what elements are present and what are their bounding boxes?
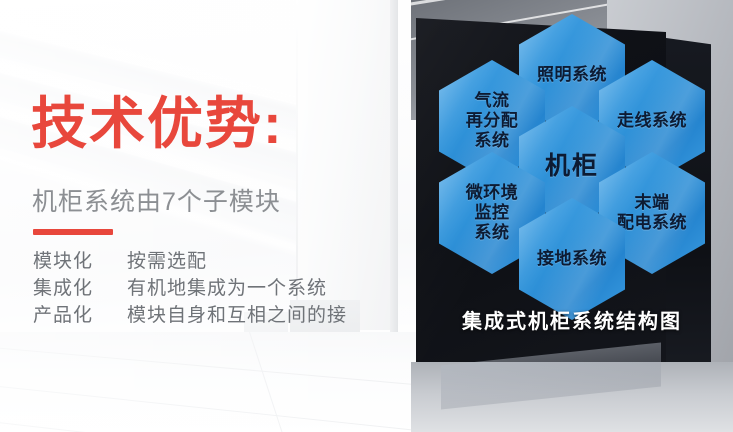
feature-value: 有机地集成为一个系统 bbox=[127, 273, 327, 300]
feature-key: 模块化 bbox=[33, 246, 127, 273]
hexagon-label: 照明系统 bbox=[533, 65, 611, 85]
hexagon-label: 气流再分配系统 bbox=[462, 91, 523, 151]
feature-key: 集成化 bbox=[33, 273, 127, 300]
hexagon-label: 接地系统 bbox=[533, 249, 611, 269]
diagram-caption: 集成式机柜系统结构图 bbox=[411, 305, 733, 334]
feature-key: 产品化 bbox=[33, 300, 127, 327]
hexagon-diagram: 照明系统 气流再分配系统 走线系统 机柜 微环境监控系统 末端配电系统 接地系统… bbox=[411, 0, 733, 432]
list-item: 集成化 有机地集成为一个系统 bbox=[33, 273, 347, 300]
feature-list: 模块化 按需选配 集成化 有机地集成为一个系统 产品化 模块自身和互相之间的接 bbox=[33, 246, 347, 327]
hexagon-label: 末端配电系统 bbox=[613, 193, 691, 233]
hexagon-label: 微环境监控系统 bbox=[462, 183, 523, 243]
hexagon-label: 机柜 bbox=[541, 152, 603, 182]
page-title: 技术优势: bbox=[31, 96, 284, 152]
feature-value: 模块自身和互相之间的接 bbox=[127, 300, 347, 327]
list-item: 产品化 模块自身和互相之间的接 bbox=[33, 300, 347, 327]
left-text-block: 技术优势: 机柜系统由7个子模块 模块化 按需选配 集成化 有机地集成为一个系统… bbox=[0, 0, 420, 432]
slide-canvas: 技术优势: 机柜系统由7个子模块 模块化 按需选配 集成化 有机地集成为一个系统… bbox=[0, 0, 733, 432]
list-item: 模块化 按需选配 bbox=[33, 246, 347, 273]
hexagon-label: 走线系统 bbox=[613, 111, 691, 131]
feature-value: 按需选配 bbox=[127, 246, 207, 273]
accent-underline-bar bbox=[33, 229, 113, 235]
page-subtitle: 机柜系统由7个子模块 bbox=[32, 182, 281, 218]
